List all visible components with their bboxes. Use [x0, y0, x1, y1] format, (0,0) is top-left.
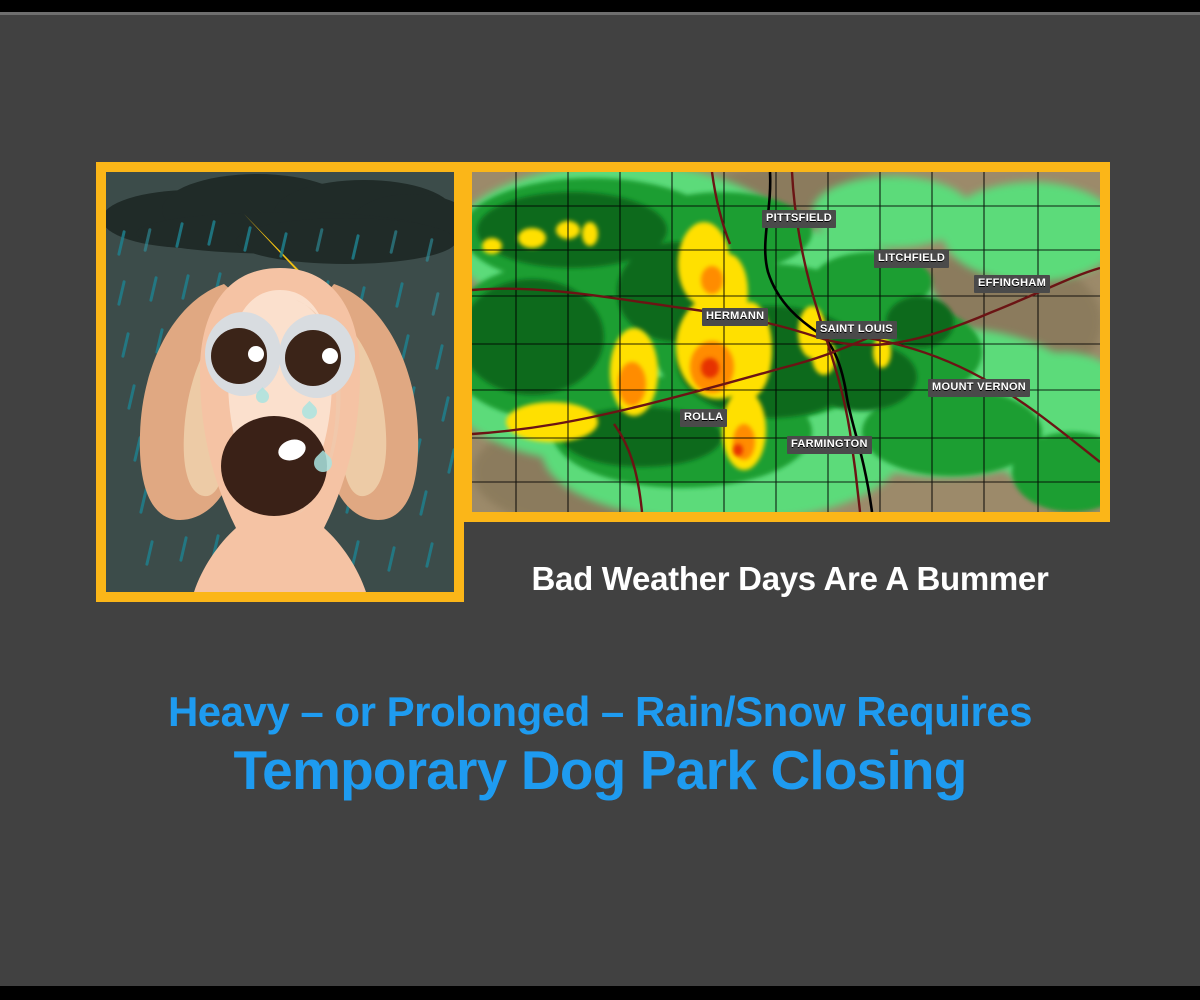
headline-line-2: Temporary Dog Park Closing	[0, 737, 1200, 804]
dog-figure	[106, 172, 454, 592]
map-city-label: LITCHFIELD	[874, 250, 949, 268]
map-city-label: SAINT LOUIS	[816, 321, 897, 339]
weather-radar-map: PITTSFIELD LITCHFIELD EFFINGHAM HERMANN …	[472, 172, 1100, 512]
slide-root: PITTSFIELD LITCHFIELD EFFINGHAM HERMANN …	[0, 0, 1200, 1000]
letterbox-bottom-bar	[0, 986, 1200, 1000]
headline-line-1: Heavy – or Prolonged – Rain/Snow Require…	[0, 687, 1200, 737]
sad-dog-image-frame	[96, 162, 464, 602]
weather-radar-image-frame: PITTSFIELD LITCHFIELD EFFINGHAM HERMANN …	[462, 162, 1110, 522]
letterbox-top-bar	[0, 0, 1200, 12]
map-city-label: FARMINGTON	[787, 436, 872, 454]
sad-dog-illustration	[106, 172, 454, 592]
map-city-label: HERMANN	[702, 308, 768, 326]
slide-headline: Heavy – or Prolonged – Rain/Snow Require…	[0, 687, 1200, 804]
map-city-label: PITTSFIELD	[762, 210, 836, 228]
map-city-label: EFFINGHAM	[974, 275, 1050, 293]
weather-caption: Bad Weather Days Are A Bummer	[470, 552, 1110, 606]
slide-canvas: PITTSFIELD LITCHFIELD EFFINGHAM HERMANN …	[0, 15, 1200, 986]
map-city-label: ROLLA	[680, 409, 727, 427]
map-city-label: MOUNT VERNON	[928, 379, 1030, 397]
